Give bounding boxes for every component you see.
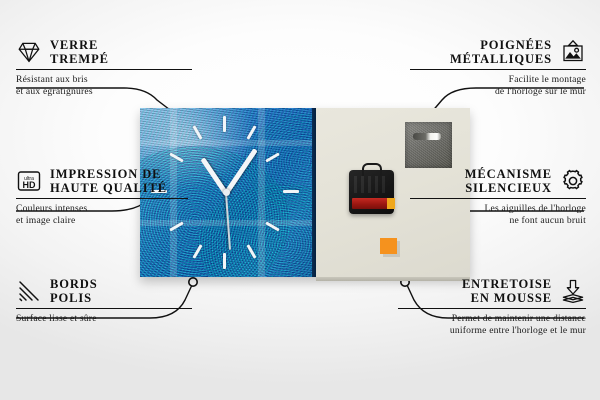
callout-divider xyxy=(16,198,188,199)
callout-header: ENTRETOISE EN MOUSSE xyxy=(390,277,586,305)
mechanism-housing-detail xyxy=(354,176,387,193)
callout-title: POIGNÉES MÉTALLIQUES xyxy=(450,38,552,66)
callout-subtitle-line2: et image claire xyxy=(16,215,206,227)
hour-tick xyxy=(223,116,226,132)
clock-center-hub xyxy=(223,189,230,196)
callout-subtitle-line1: Permet de maintenir une distance xyxy=(390,313,586,325)
battery xyxy=(352,198,391,209)
callout-subtitle-line2: de l'horloge sur le mur xyxy=(406,86,586,98)
callout-poignees-metalliques: POIGNÉES MÉTALLIQUES Facilite le montage… xyxy=(406,38,586,98)
callout-title: VERRE TREMPÉ xyxy=(50,38,109,66)
mechanism-hanging-loop xyxy=(362,163,382,176)
battery-plus-terminal xyxy=(387,198,395,209)
hour-tick xyxy=(283,190,299,193)
callout-subtitle-line2: et aux égratignures xyxy=(16,86,196,98)
callout-divider xyxy=(398,308,586,309)
hour-tick xyxy=(192,125,202,139)
callout-subtitle-line1: Couleurs intenses xyxy=(16,203,206,215)
callout-divider xyxy=(16,69,192,70)
callout-subtitle-line2: uniforme entre l'horloge et le mur xyxy=(390,325,586,337)
picture-frame-hanger-icon xyxy=(560,39,586,65)
infographic-canvas: VERRE TREMPÉ Résistant aux bris et aux é… xyxy=(0,0,600,400)
callout-header: ultra HD IMPRESSION DE HAUTE QUALITÉ xyxy=(16,167,206,195)
callout-title: IMPRESSION DE HAUTE QUALITÉ xyxy=(50,167,167,195)
callout-subtitle-line2: ne font aucun bruit xyxy=(406,215,586,227)
callout-title: BORDS POLIS xyxy=(50,277,98,305)
gear-icon xyxy=(560,168,586,194)
svg-text:HD: HD xyxy=(23,180,36,190)
callout-subtitle-line1: Surface lisse et sûre xyxy=(16,313,196,325)
callout-subtitle-line1: Les aiguilles de l'horloge xyxy=(406,203,586,215)
callout-divider xyxy=(16,308,192,309)
clock-mechanism xyxy=(349,170,394,214)
callout-entretoise-en-mousse: ENTRETOISE EN MOUSSE Permet de maintenir… xyxy=(390,277,586,337)
foam-spacer xyxy=(380,238,397,254)
callout-divider xyxy=(410,198,586,199)
callout-divider xyxy=(410,69,586,70)
callout-header: VERRE TREMPÉ xyxy=(16,38,196,66)
callout-title: ENTRETOISE EN MOUSSE xyxy=(462,277,552,305)
diamond-icon xyxy=(16,39,42,65)
callout-verre-trempe: VERRE TREMPÉ Résistant aux bris et aux é… xyxy=(16,38,196,98)
callout-bords-polis: BORDS POLIS Surface lisse et sûre xyxy=(16,277,196,325)
foam-spacer-icon xyxy=(560,278,586,304)
callout-title: MÉCANISME SILENCIEUX xyxy=(465,167,552,195)
hour-tick xyxy=(223,253,226,269)
callout-header: MÉCANISME SILENCIEUX xyxy=(406,167,586,195)
callout-impression-haute-qualite: ultra HD IMPRESSION DE HAUTE QUALITÉ Cou… xyxy=(16,167,206,227)
polished-edges-icon xyxy=(16,278,42,304)
callout-subtitle-line1: Facilite le montage xyxy=(406,74,586,86)
callout-header: POIGNÉES MÉTALLIQUES xyxy=(406,38,586,66)
ultra-hd-icon: ultra HD xyxy=(16,168,42,194)
metal-hanger xyxy=(405,122,452,168)
callout-header: BORDS POLIS xyxy=(16,277,196,305)
callout-mecanisme-silencieux: MÉCANISME SILENCIEUX Les aiguilles de l'… xyxy=(406,167,586,227)
callout-subtitle-line1: Résistant aux bris xyxy=(16,74,196,86)
hanger-keyhole-slot xyxy=(413,133,441,140)
